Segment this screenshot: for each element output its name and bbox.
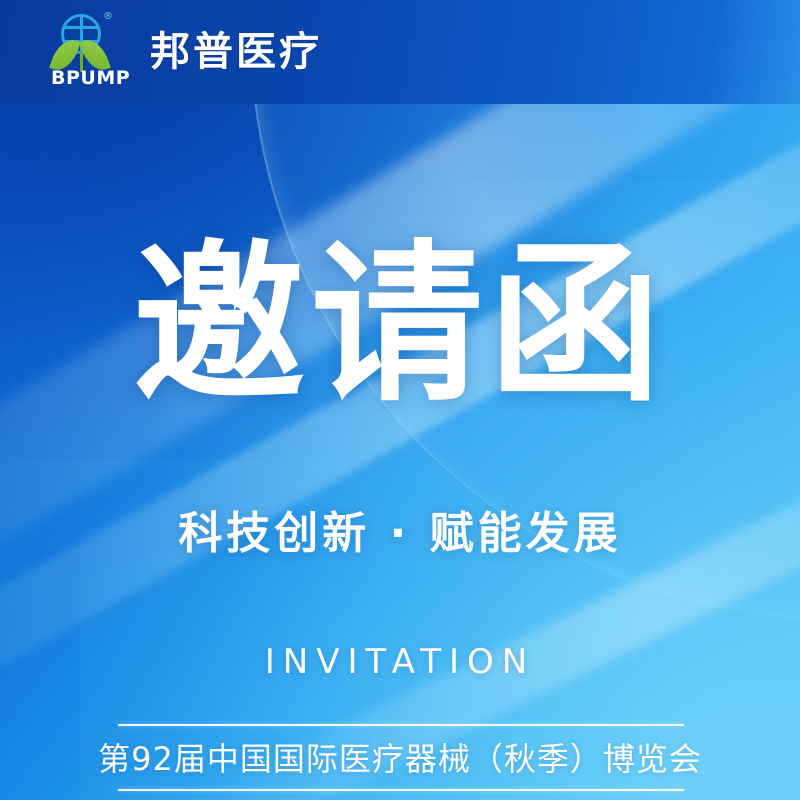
divider-line-bottom bbox=[118, 789, 684, 791]
invitation-poster: ® BPUMP 邦普医疗 邀请函 科技创新 · 赋能发展 INVITATION … bbox=[0, 0, 800, 800]
page-title: 邀请函 bbox=[0, 232, 800, 418]
logo-wordmark: BPUMP bbox=[51, 69, 121, 88]
bpump-globe-leaf-logo: ® BPUMP bbox=[46, 12, 124, 92]
registered-trademark-icon: ® bbox=[103, 12, 113, 22]
poster-content: 邀请函 科技创新 · 赋能发展 INVITATION 第92届中国国际医疗器械（… bbox=[0, 0, 800, 800]
event-name: 第92届中国国际医疗器械（秋季）博览会 bbox=[0, 736, 800, 782]
brand-name: 邦普医疗 bbox=[150, 32, 322, 72]
subtitle-slogan: 科技创新 · 赋能发展 bbox=[0, 508, 800, 561]
divider-line-top bbox=[118, 724, 684, 726]
logo-horizontal-line-top-icon bbox=[63, 26, 99, 29]
header-bar: ® BPUMP 邦普医疗 bbox=[0, 0, 800, 104]
english-title: INVITATION bbox=[0, 645, 800, 679]
